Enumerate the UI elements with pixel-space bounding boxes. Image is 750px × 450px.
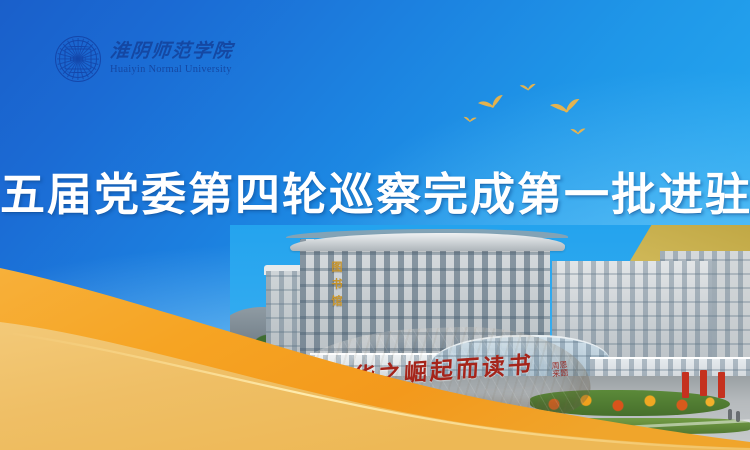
university-name-en: Huaiyin Normal University: [110, 64, 233, 76]
bird-icon: [463, 117, 476, 123]
university-logo[interactable]: HNU 淮阴师范学院 Huaiyin Normal University: [55, 36, 233, 82]
stone-signature-line2: 来题: [552, 370, 569, 380]
logo-text-block: 淮阴师范学院 Huaiyin Normal University: [110, 42, 233, 75]
red-banner-pole: [682, 372, 689, 398]
red-banner-pole: [718, 372, 725, 398]
bird-icon: [550, 99, 582, 116]
bird-icon: [478, 95, 506, 112]
university-seal-icon: HNU: [55, 36, 101, 82]
red-banner-pole: [700, 370, 707, 396]
university-news-banner: 图书馆 为中华之崛起而读书 周恩 来题: [0, 0, 750, 450]
bird-icon: [520, 84, 537, 92]
pedestrian: [736, 411, 740, 422]
university-name-cn: 淮阴师范学院: [109, 42, 234, 63]
stone-signature: 周恩 来题: [551, 361, 568, 379]
banner-headline: 五届党委第四轮巡察完成第一批进驻: [0, 172, 750, 219]
pedestrian: [728, 409, 732, 420]
bird-icon: [570, 128, 585, 134]
library-sign-label: 图书馆: [330, 261, 341, 312]
